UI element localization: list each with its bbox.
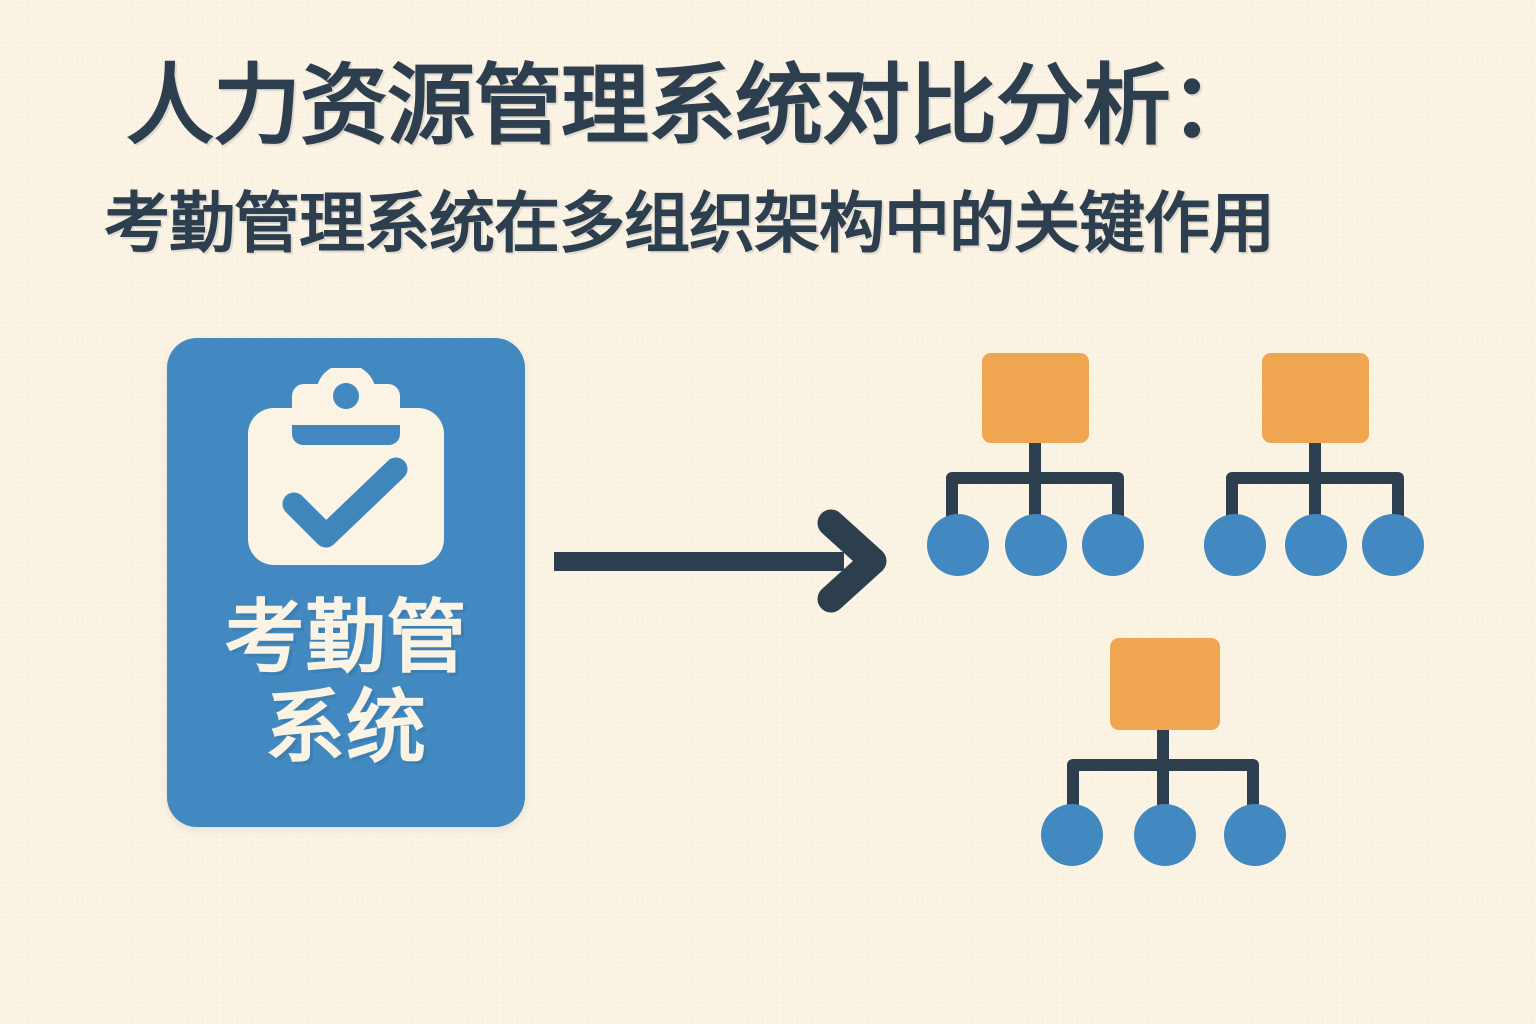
org-root-node: [1262, 353, 1369, 443]
page-subtitle: 考勤管理系统在多组织架构中的关键作用: [104, 190, 1274, 256]
org-leaf-node: [1204, 514, 1266, 576]
org-chart-3: [1025, 630, 1295, 880]
org-leaf-node: [927, 514, 989, 576]
org-root-node: [1110, 638, 1220, 730]
org-leaf-node: [1224, 804, 1286, 866]
org-connector-lines: [1073, 730, 1253, 815]
attendance-system-card-label: 考勤管系统: [167, 593, 525, 772]
org-chart-1: [905, 345, 1175, 595]
attendance-system-card[interactable]: 考勤管系统: [167, 338, 525, 827]
org-root-node: [982, 353, 1089, 443]
org-leaf-node: [1362, 514, 1424, 576]
poster-canvas: 人力资源管理系统对比分析： 考勤管理系统在多组织架构中的关键作用 考勤管系统: [0, 0, 1536, 1024]
org-leaf-node: [1005, 514, 1067, 576]
org-leaf-node: [1082, 514, 1144, 576]
org-leaf-node: [1041, 804, 1103, 866]
org-chart-2: [1185, 345, 1455, 595]
page-title: 人力资源管理系统对比分析：: [126, 62, 1257, 150]
arrow-right-icon: [548, 505, 888, 617]
clipboard-check-icon: [244, 368, 448, 568]
org-leaf-node: [1285, 514, 1347, 576]
org-leaf-node: [1134, 804, 1196, 866]
